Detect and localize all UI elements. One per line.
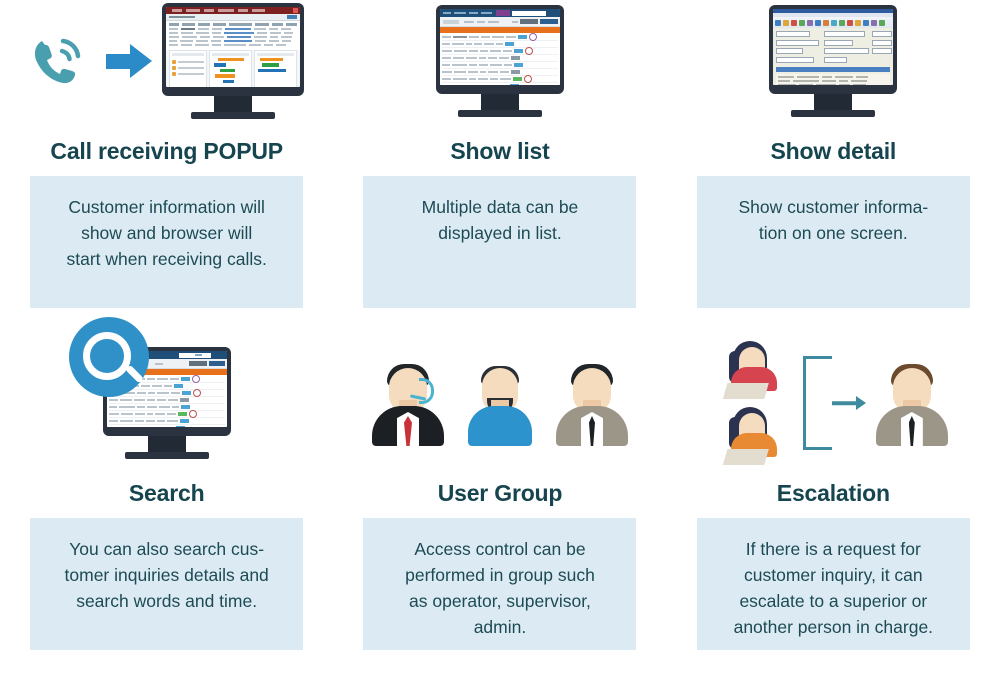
feature-grid: Call receiving POPUP Customer informatio… xyxy=(0,0,1000,684)
card-artwork-search xyxy=(0,342,333,464)
card-call-receiving-popup: Call receiving POPUP Customer informatio… xyxy=(0,0,333,342)
agents-group xyxy=(719,341,789,465)
card-heading: User Group xyxy=(438,478,563,508)
card-show-list: Show list Multiple data can be displayed… xyxy=(333,0,666,342)
card-artwork-call-receiving-popup xyxy=(0,0,333,122)
monitor-call-popup-icon xyxy=(162,3,304,119)
escalation-bracket-arrow-icon xyxy=(803,356,832,450)
card-user-group: User Group Access control can be perform… xyxy=(333,342,666,684)
card-heading: Call receiving POPUP xyxy=(50,136,282,166)
card-heading: Show list xyxy=(450,136,549,166)
three-people-icon xyxy=(372,360,628,446)
card-description-panel: Customer information will show and brows… xyxy=(30,176,303,308)
arrow-right-icon xyxy=(106,44,152,78)
card-artwork-show-detail xyxy=(667,0,1000,122)
superior-avatar xyxy=(876,360,948,446)
monitor-detail-icon xyxy=(769,5,897,117)
search-icon xyxy=(69,317,149,397)
bearded-user-avatar xyxy=(464,360,536,446)
card-heading: Search xyxy=(129,478,205,508)
card-description-panel: Access control can be performed in group… xyxy=(363,518,636,650)
agent-avatar-red xyxy=(719,341,789,399)
card-description-text: Show customer informa- tion on one scree… xyxy=(739,194,929,246)
phone-and-arrow-group xyxy=(30,35,152,87)
card-artwork-show-list xyxy=(333,0,666,122)
agent-avatar-orange xyxy=(719,407,789,465)
card-description-text: Multiple data can be displayed in list. xyxy=(422,194,579,246)
operator-avatar xyxy=(372,360,444,446)
card-escalation: Escalation If there is a request for cus… xyxy=(667,342,1000,684)
card-description-panel: Multiple data can be displayed in list. xyxy=(363,176,636,308)
card-heading: Escalation xyxy=(777,478,890,508)
card-description-text: Customer information will show and brows… xyxy=(66,194,266,272)
monitor-search-icon xyxy=(103,347,231,459)
card-search: Search You can also search cus- tomer in… xyxy=(0,342,333,684)
card-heading: Show detail xyxy=(771,136,897,166)
card-description-panel: If there is a request for customer inqui… xyxy=(697,518,970,650)
card-description-panel: Show customer informa- tion on one scree… xyxy=(697,176,970,308)
supervisor-avatar xyxy=(556,360,628,446)
card-show-detail: Show detail Show customer informa- tion … xyxy=(667,0,1000,342)
phone-ringing-icon xyxy=(30,35,88,87)
card-artwork-user-group xyxy=(333,342,666,464)
card-description-text: Access control can be performed in group… xyxy=(405,536,595,640)
card-artwork-escalation xyxy=(667,342,1000,464)
escalation-icon xyxy=(719,341,948,465)
card-description-panel: You can also search cus- tomer inquiries… xyxy=(30,518,303,650)
card-description-text: You can also search cus- tomer inquiries… xyxy=(65,536,269,614)
card-description-text: If there is a request for customer inqui… xyxy=(734,536,933,640)
monitor-list-icon xyxy=(436,5,564,117)
